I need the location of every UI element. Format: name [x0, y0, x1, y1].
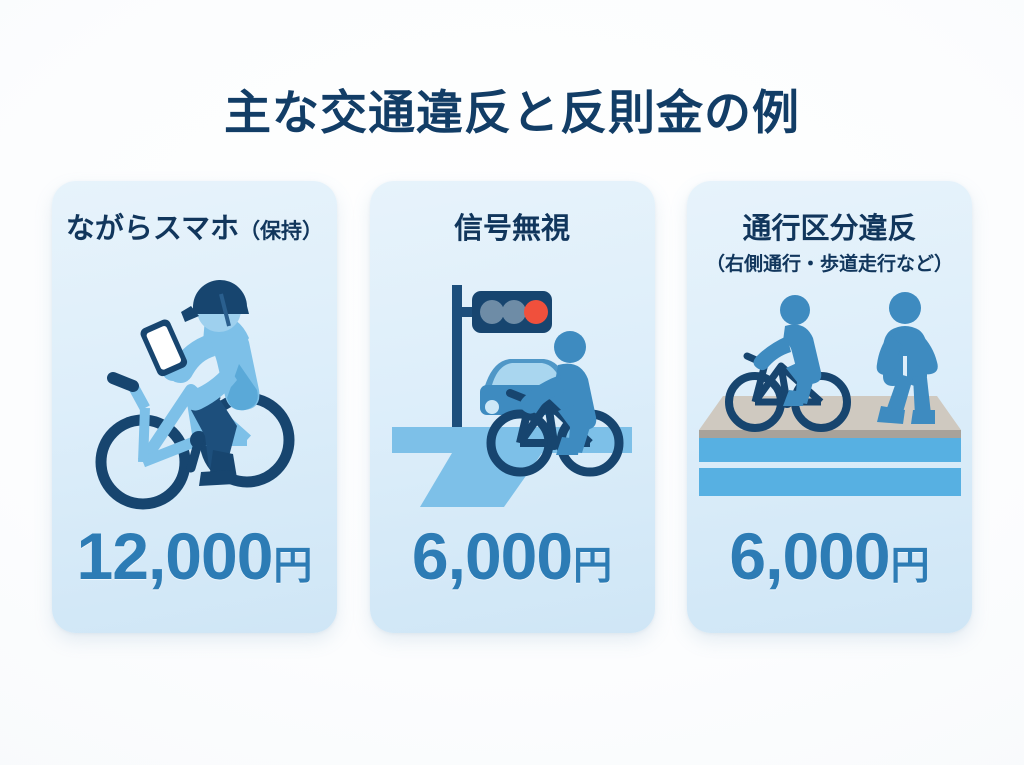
sidewalk-cyclist-pedestrian-icon	[687, 269, 972, 514]
card-title-red-light: 信号無視	[370, 205, 655, 247]
infographic-page: 主な交通違反と反則金の例 ながらスマホ（保持）	[0, 0, 1024, 765]
violation-card-smartphone[interactable]: ながらスマホ（保持）	[52, 181, 337, 633]
violation-card-lane-violation[interactable]: 通行区分違反 （右側通行・歩道走行など）	[687, 181, 972, 633]
page-title: 主な交通違反と反則金の例	[0, 74, 1024, 143]
violation-card-list: ながらスマホ（保持）	[52, 181, 972, 633]
violation-card-red-light[interactable]: 信号無視	[370, 181, 655, 633]
price-lane-violation: 6,000円	[687, 523, 972, 589]
card-title-smartphone: ながらスマホ（保持）	[52, 205, 337, 247]
price-smartphone: 12,000円	[52, 523, 337, 589]
card-header: 通行区分違反 （右側通行・歩道走行など）	[687, 205, 972, 276]
card-header: 信号無視	[370, 205, 655, 247]
cyclist-using-smartphone-icon	[52, 269, 337, 514]
card-title-lane-violation: 通行区分違反	[687, 205, 972, 247]
traffic-light-car-cyclist-icon	[370, 269, 655, 514]
card-header: ながらスマホ（保持）	[52, 205, 337, 247]
price-red-light: 6,000円	[370, 523, 655, 589]
